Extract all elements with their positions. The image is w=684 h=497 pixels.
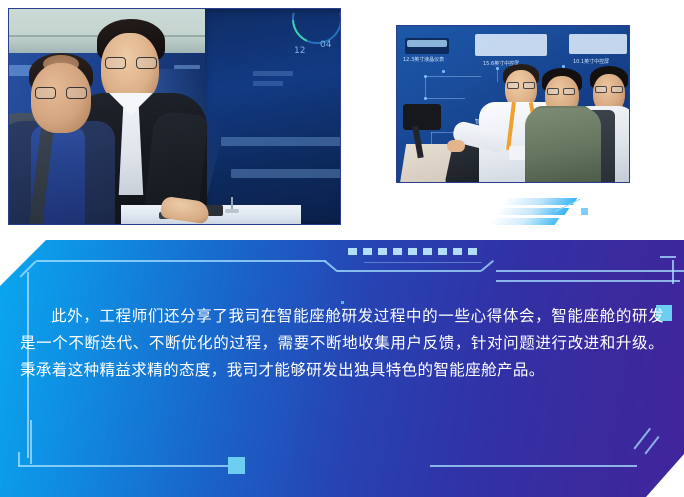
svg-text:04: 04 xyxy=(320,40,332,50)
frame-bottom-left-stub xyxy=(18,452,20,466)
camera-rig xyxy=(403,104,441,130)
board-center-screen-1 xyxy=(475,34,547,56)
board-node-3 xyxy=(424,97,427,100)
frame-right-cap xyxy=(660,256,676,258)
photo-engineer-demo-right: 12.3英寸液晶仪表 15.6英寸中控屏 10.1英寸中控屏 智能座舱域控制器 xyxy=(396,25,630,183)
board-node-1 xyxy=(424,75,427,78)
board-node-4 xyxy=(496,67,499,70)
wall-text-right-1 xyxy=(253,71,293,76)
frame-dash-7 xyxy=(438,248,447,255)
board-cluster-screen xyxy=(407,40,447,47)
wall-text-right-3 xyxy=(221,137,341,146)
frame-bottom-horizontal xyxy=(18,465,233,467)
frame-square-bottom xyxy=(228,457,245,474)
panel-paragraph: 此外，工程师们还分享了我司在智能座舱研发过程中的一些心得体会，智能座舱的研发是一… xyxy=(20,303,664,384)
person-visitor-glasses xyxy=(35,87,87,99)
board-label-center-2: 10.1英寸中控屏 xyxy=(573,58,609,65)
board-conn-3 xyxy=(425,98,465,99)
board-center-screen-2 xyxy=(569,34,627,54)
board-conn-1 xyxy=(425,76,481,77)
arrow-stripe-1 xyxy=(501,198,578,205)
frame-dash-8 xyxy=(453,248,462,255)
person-presenter-hand xyxy=(447,140,465,152)
frame-notch-inner-line xyxy=(364,262,482,263)
frame-dash-2 xyxy=(363,248,372,255)
frame-dash-5 xyxy=(408,248,417,255)
frame-bottom-horizontal-right xyxy=(430,465,637,467)
frame-notch-up-right xyxy=(481,260,494,271)
person-presenter-glasses xyxy=(507,82,535,89)
frame-notch-down-left xyxy=(325,260,338,271)
desk-stand-base xyxy=(225,209,239,213)
frame-bottom-left-vertical xyxy=(30,420,32,464)
arrow-stripes-decor xyxy=(489,198,599,232)
wall-text-right-4 xyxy=(231,169,341,178)
frame-dash-9 xyxy=(468,248,477,255)
board-conn-2 xyxy=(425,76,426,98)
frame-right-line-top xyxy=(496,270,684,272)
frame-bottom-slash-2 xyxy=(644,436,659,454)
photo-engineer-demo-left: 12 04 xyxy=(8,8,341,225)
frame-top-horizontal-left xyxy=(36,260,326,262)
arrow-dot-square xyxy=(581,208,588,215)
panel-body-text: 此外，工程师们还分享了我司在智能座舱研发过程中的一些心得体会，智能座舱的研发是一… xyxy=(20,303,664,384)
wall-arc-graphic: 12 04 xyxy=(245,13,341,77)
person-suit-glasses xyxy=(105,57,157,69)
blue-gradient-text-panel: 此外，工程师们还分享了我司在智能座舱研发过程中的一些心得体会，智能座舱的研发是一… xyxy=(0,240,684,497)
arrow-stripe-3 xyxy=(489,218,560,225)
photo-left-content: 12 04 xyxy=(9,9,340,224)
frame-dash-3 xyxy=(378,248,387,255)
board-conn-4 xyxy=(497,68,498,82)
svg-text:12: 12 xyxy=(294,46,305,56)
frame-right-line-bottom xyxy=(496,280,680,282)
frame-dash-4 xyxy=(393,248,402,255)
board-node-2 xyxy=(442,70,445,73)
board-label-cluster: 12.3英寸液晶仪表 xyxy=(403,56,444,63)
frame-right-vertical xyxy=(672,260,674,284)
frame-bottom-slash-1 xyxy=(633,428,650,449)
wall-text-right-2 xyxy=(253,81,283,86)
person-visitor-b-glasses xyxy=(595,86,623,93)
slide-canvas: 12 04 xyxy=(0,0,684,497)
frame-dash-1 xyxy=(348,248,357,255)
person-visitor-a-jacket xyxy=(525,108,601,183)
photo-right-content: 12.3英寸液晶仪表 15.6英寸中控屏 10.1英寸中控屏 智能座舱域控制器 xyxy=(397,26,629,182)
frame-dash-6 xyxy=(423,248,432,255)
person-visitor-a-glasses xyxy=(547,88,575,95)
frame-notch-bottom xyxy=(337,270,481,272)
